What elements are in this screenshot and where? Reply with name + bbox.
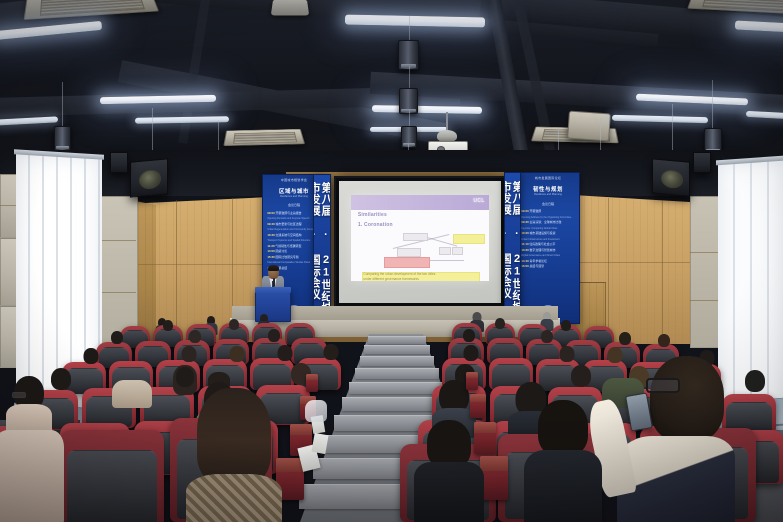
banner-subtitle: Resilience and Planning (517, 193, 579, 196)
audience-member (538, 330, 556, 350)
speaker-presenter-hair (268, 265, 279, 271)
ceiling-ac-cassette (223, 129, 305, 146)
slide-box-highlight (453, 234, 485, 245)
schedule-time: 15:30 (267, 255, 274, 259)
person-torso (414, 462, 484, 522)
wall-seam (662, 200, 663, 342)
person-head (278, 345, 293, 361)
aisle-step (364, 345, 430, 354)
slide-box-top (403, 233, 427, 241)
person-head (268, 329, 280, 342)
audience-member (566, 365, 596, 399)
schedule-title-cn: 开幕致辞 (530, 209, 542, 213)
audience-member (740, 370, 770, 404)
schedule-time: 10:30 (267, 233, 274, 237)
schedule-item: 09:00 开幕致辞Opening Address by the Organis… (521, 209, 574, 220)
wall-seam (608, 198, 609, 342)
audience-coat (112, 380, 152, 408)
schedule-title-cn: 城市基础设施与投资 (530, 231, 556, 235)
ac-grill (233, 132, 297, 144)
schedule-time: 11:20 (267, 244, 274, 248)
podium-top-surface (255, 287, 292, 293)
presentation-slide: UCL Similarities 1. Coronation Comparing… (351, 195, 489, 281)
audience-member (655, 334, 673, 354)
slide-box-mid (397, 248, 421, 257)
person-head (163, 320, 173, 331)
person-head (427, 420, 471, 468)
armrest-top (480, 456, 508, 471)
person-head (464, 345, 479, 361)
slide-header-band (351, 195, 489, 210)
person-head (495, 318, 505, 329)
schedule-item: 10:20 城市基础设施与投资Urban Infrastructure and … (521, 231, 574, 242)
schedule-item: 16:00 总结与展望 (521, 264, 574, 270)
seat-armrest (480, 456, 508, 500)
schedule-title-cn: 住房政策与社会公平 (529, 242, 555, 246)
slide-title-line1: Similarities (358, 212, 387, 218)
schedule-title-en: International Comparative Studies Panel (267, 261, 310, 264)
auditorium-photo: UCL Similarities 1. Coronation Comparing… (0, 0, 783, 522)
person-head (230, 346, 245, 362)
schedule-title-cn: 交通系统与空间结构 (276, 233, 302, 237)
banner-header-text: 城市发展国际论坛 (517, 176, 579, 180)
wall-speaker-small (110, 152, 128, 173)
projection-screen-frame: UCL Similarities 1. Coronation Comparing… (334, 176, 506, 308)
audience-member-foreground (0, 430, 64, 522)
aisle-step (355, 368, 439, 379)
conference-banner-left-spine: 第八届 · 21世纪城市发展 · 国际会议 (313, 174, 331, 324)
seat-armrest (466, 372, 478, 390)
wall-speaker (130, 158, 168, 197)
schedule-title-cn: 总结与展望 (530, 264, 544, 268)
ac-grill (702, 0, 783, 12)
schedule-item: 09:30 主旨演讲：全球城市比较Keynote: Comparing Glob… (521, 220, 574, 231)
audience-member (320, 344, 342, 368)
schedule-title-cn: 主旨演讲：全球城市比较 (530, 220, 562, 224)
schedule-title-cn: 青年学者论坛 (530, 259, 547, 263)
schedule-title-en: Opening Address by the Organising Commit… (521, 216, 571, 219)
schedule-title-en: Keynote: Comparing Global Cities (521, 227, 557, 230)
aisle-step (368, 336, 426, 344)
banner-vertical-title: 第八届 · 21世纪城市发展 · 国际会议 (507, 181, 521, 324)
schedule-title-en: Urban Infrastructure and Investment (521, 238, 559, 241)
person-head (745, 370, 765, 392)
person-head (650, 356, 724, 442)
person-head (658, 334, 670, 347)
audience-member (80, 348, 102, 372)
slide-box-small (439, 247, 451, 256)
person-head (324, 344, 339, 360)
schedule-time: 14:40 (521, 259, 528, 263)
schedule-time: 09:00 (521, 209, 528, 213)
projection-screen: UCL Similarities 1. Coronation Comparing… (339, 181, 501, 303)
audience-member (6, 376, 52, 432)
pendant-speaker (401, 126, 417, 148)
armrest-top (306, 374, 318, 380)
plastic-bag (305, 400, 327, 422)
slide-note-line2: under different governance frameworks (363, 277, 418, 281)
schedule-title-cn: 圆桌讨论 (276, 249, 288, 253)
seat-panel (67, 450, 156, 522)
schedule-title-cn: 开幕致辞与主旨报告 (276, 211, 302, 215)
ucl-logo: UCL (473, 198, 484, 204)
slide-title-line2: 1. Coronation (358, 222, 393, 228)
person-head (571, 365, 591, 387)
schedule-title-cn: 数字治理与智慧城市 (530, 248, 556, 252)
schedule-title-en: Opening Remarks and Keynote Speech (267, 217, 309, 220)
person-head (176, 367, 194, 387)
person-head (541, 330, 553, 343)
audience-member (558, 320, 573, 336)
person-torso (0, 430, 64, 522)
schedule-title-cn: 城市更新与社区治理 (276, 222, 302, 226)
aisle-step (360, 356, 434, 366)
person-head (538, 400, 588, 456)
panel-seam (100, 240, 136, 241)
audience-member (492, 318, 507, 334)
auditorium-seat[interactable] (60, 430, 164, 522)
eyeglasses (646, 378, 680, 393)
schedule-title-cn: 国际比较研究专题 (276, 255, 299, 259)
slide-box-small (452, 247, 464, 256)
panel-seam (100, 292, 136, 293)
person-head (182, 346, 197, 362)
schedule-title-en: Transport Systems and Spatial Structure (267, 239, 310, 242)
schedule-item: 13:30 数字治理与智慧城市Digital Governance and Sm… (521, 248, 574, 259)
schedule-time: 09:00 (267, 211, 274, 215)
audience-member-foreground (524, 400, 602, 522)
wall-speaker (652, 158, 690, 196)
schedule-time: 10:20 (521, 231, 528, 235)
audience-member (160, 320, 175, 336)
wall-speaker-small (693, 152, 711, 173)
person-hair-long (197, 388, 271, 484)
banner-schedule-label: 会议日程 (517, 202, 579, 206)
schedule-time: 16:00 (521, 264, 528, 268)
pendant-speaker (54, 126, 71, 151)
person-head (189, 330, 201, 343)
person-torso (524, 450, 602, 522)
schedule-title-en: Digital Governance and Smart Cities (521, 254, 560, 257)
schedule-time: 11:10 (521, 242, 528, 246)
wall-seam (176, 200, 177, 342)
seat-armrest (306, 374, 318, 392)
person-head (560, 346, 575, 362)
person-head (463, 329, 475, 342)
eyeglasses (12, 392, 26, 398)
schedule-time: 09:40 (267, 222, 274, 226)
audience-member (108, 331, 126, 351)
person-head (111, 331, 123, 344)
banner-schedule-list: 09:00 开幕致辞Opening Address by the Organis… (521, 209, 574, 270)
audience-member-foreground (414, 420, 484, 522)
audience-member-foreground (186, 388, 282, 522)
person-head (619, 332, 631, 345)
schedule-time: 09:30 (521, 220, 528, 224)
person-head (51, 368, 71, 390)
armrest-top (290, 424, 312, 435)
person-head (229, 319, 239, 330)
speaker-cone (139, 169, 161, 190)
person-head (84, 348, 99, 364)
ceiling-vent (271, 0, 309, 16)
banner-title: 韧性与规划 (517, 185, 579, 193)
slide-box-emphasis (384, 257, 430, 268)
ceiling-ac-cassette (567, 111, 611, 142)
microphone (273, 278, 275, 287)
schedule-title-cn: 气候韧性与低碳转型 (275, 244, 301, 248)
schedule-time: 14:00 (267, 249, 274, 253)
speaker-cone (661, 169, 683, 189)
conference-banner-right-spine: 第八届 · 21世纪城市发展 · 国际会议 (504, 172, 521, 324)
banner-vertical-title: 第八届 · 21世纪城市发展 · 国际会议 (316, 182, 331, 323)
aisle-step (349, 382, 445, 394)
audience-member (226, 319, 241, 335)
audience-member (226, 346, 248, 370)
conference-banner-right: 城市发展国际论坛 韧性与规划 Resilience and Planning 会… (516, 172, 580, 324)
armrest-top (466, 372, 478, 378)
person-head (561, 320, 571, 331)
pendant-wire (409, 66, 410, 90)
seat-armrest (470, 394, 486, 418)
armrest-top (470, 394, 486, 402)
schedule-time: 13:30 (521, 248, 528, 252)
person-torso (186, 474, 282, 522)
